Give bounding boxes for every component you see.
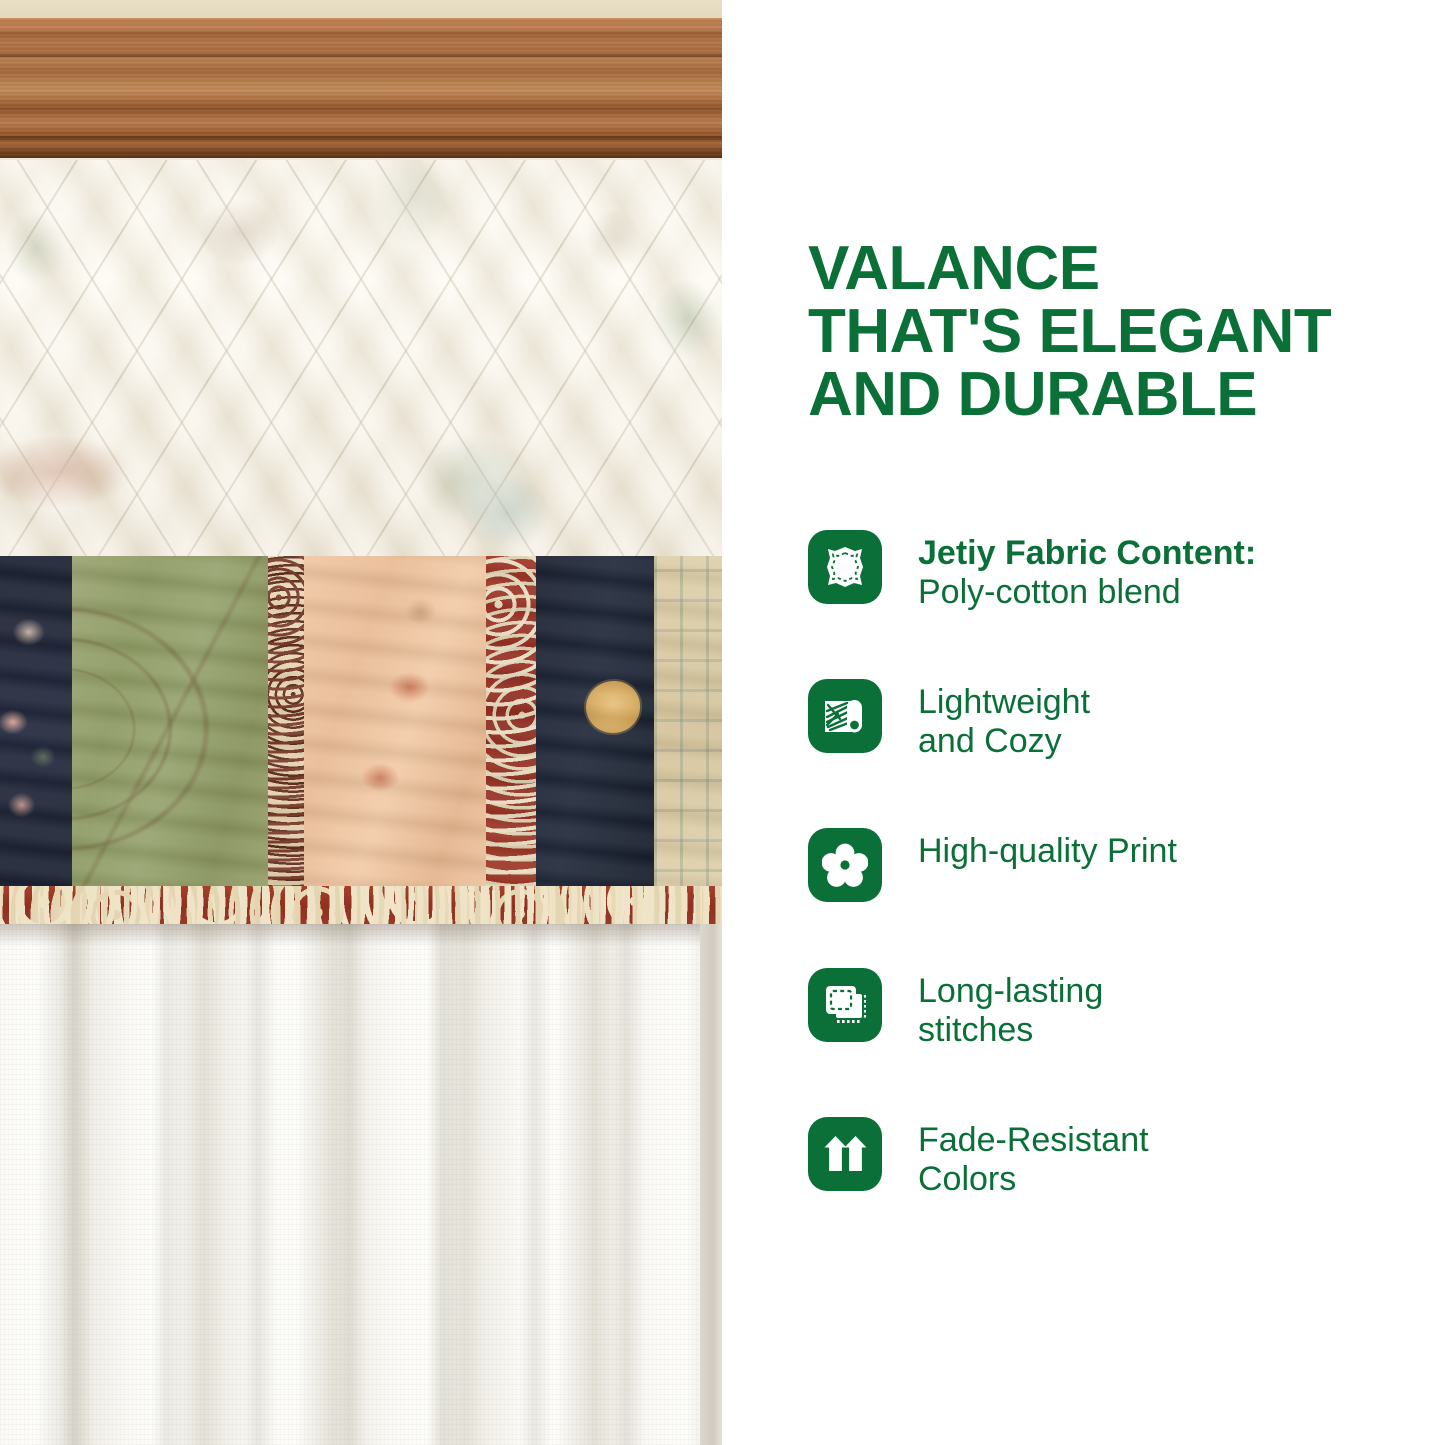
page-title: VALANCE THAT'S ELEGANT AND DURABLE: [808, 237, 1408, 427]
cornice-lip-mid: [0, 136, 722, 140]
feature-label-line-1: Long-lasting: [918, 972, 1103, 1011]
feature-label-print-quality: High-quality Print: [918, 828, 1177, 871]
leather-hide-icon: [808, 530, 882, 604]
feature-item-fade-resistant: Fade-Resistant Colors: [808, 1117, 1408, 1200]
patch-tan-plaid: [654, 556, 722, 902]
flower-icon: [808, 828, 882, 902]
feature-label-stitches: Long-lasting stitches: [918, 968, 1103, 1051]
product-photo: [0, 0, 722, 1445]
feature-label-fabric-content: Jetiy Fabric Content: Poly-cotton blend: [918, 530, 1256, 613]
white-linen-curtain: [0, 924, 722, 1445]
stacked-fabric-stitch-icon: [808, 968, 882, 1042]
feature-label-value: Poly-cotton blend: [918, 573, 1256, 612]
patch-navy-floral: [0, 556, 72, 902]
feature-item-lightweight: Lightweight and Cozy: [808, 679, 1408, 762]
content-panel: VALANCE THAT'S ELEGANT AND DURABLE Jetiy…: [722, 0, 1445, 1445]
feature-label-line-2: and Cozy: [918, 722, 1090, 761]
wall-edge-right: [700, 924, 722, 1445]
patch-dotted-strip: [268, 556, 304, 902]
headline-line-2: THAT'S ELEGANT: [808, 300, 1408, 363]
patch-navy-gold-leaf: [536, 556, 654, 902]
feature-label-line-1: Lightweight: [918, 683, 1090, 722]
cornice-lip-top: [0, 54, 722, 57]
patch-peach-floral: [304, 556, 486, 902]
double-up-arrow-icon: [808, 1117, 882, 1191]
infographic-page: VALANCE THAT'S ELEGANT AND DURABLE Jetiy…: [0, 0, 1445, 1445]
feature-label-line-1: High-quality Print: [918, 832, 1177, 871]
feature-label-line-2: Colors: [918, 1160, 1149, 1199]
quilted-cream-floral-panel: [0, 160, 722, 560]
headline-line-1: VALANCE: [808, 237, 1408, 300]
patch-olive-green: [72, 556, 268, 902]
wood-cornice: [0, 18, 722, 158]
patchwork-strip: [0, 556, 722, 902]
feature-item-print-quality: High-quality Print: [808, 828, 1408, 902]
headline-line-3: AND DURABLE: [808, 363, 1408, 426]
fabric-roll-icon: [808, 679, 882, 753]
feature-label-bold: Jetiy Fabric Content:: [918, 534, 1256, 572]
feature-item-stitches: Long-lasting stitches: [808, 968, 1408, 1051]
feature-item-fabric-content: Jetiy Fabric Content: Poly-cotton blend: [808, 530, 1408, 613]
patch-red-floral-strip: [486, 556, 536, 902]
wall-strip: [0, 0, 722, 20]
feature-label-line-2: stitches: [918, 1011, 1103, 1050]
feature-label-fade-resistant: Fade-Resistant Colors: [918, 1117, 1149, 1200]
feature-label-line-1: Fade-Resistant: [918, 1121, 1149, 1160]
feature-label-lightweight: Lightweight and Cozy: [918, 679, 1090, 762]
red-floral-binding: [0, 886, 722, 926]
feature-list: Jetiy Fabric Content: Poly-cotton blend: [808, 530, 1408, 1200]
